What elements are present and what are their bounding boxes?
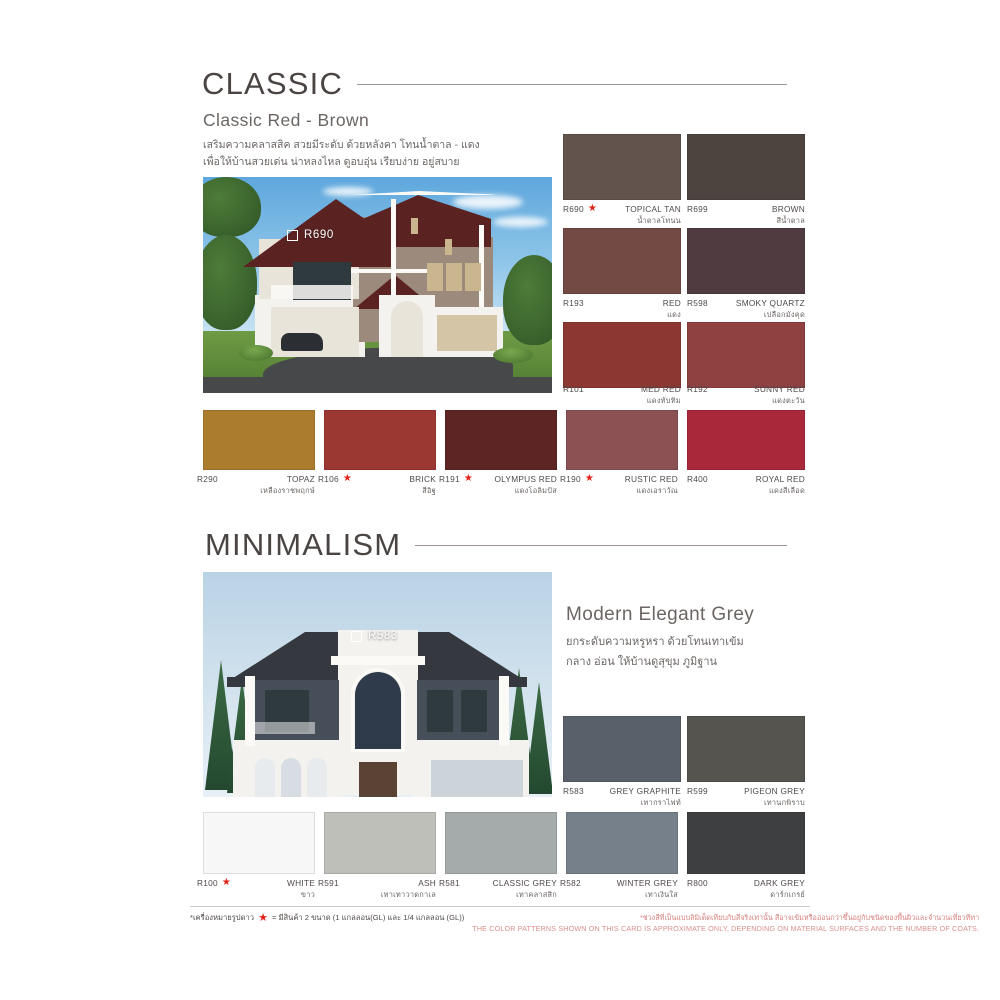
swatch-code-group: R581 (439, 878, 460, 888)
swatch-names: WHITE ขาว (287, 878, 315, 900)
swatch-name-thai: เทานกพิราบ (744, 797, 805, 808)
swatch-code: R599 (687, 786, 708, 796)
swatch-R101[interactable] (563, 322, 681, 388)
swatch-name: WHITE (287, 878, 315, 889)
garage (431, 760, 523, 797)
driveway-front (203, 377, 552, 393)
house-colour-chip-classic: R690 (287, 229, 334, 241)
swatch-colour (445, 812, 557, 874)
window (445, 239, 452, 255)
house-colour-chip-minimalism: R583 (351, 630, 398, 642)
swatch-R800[interactable] (687, 812, 805, 874)
swatch-name-thai: ดาร์กเกรย์ (754, 889, 805, 900)
swatch-caption-R591: R591 ASH เทาเทาวาดกาเล (318, 878, 436, 900)
swatch-R599[interactable] (687, 716, 805, 782)
swatch-names: SUNNY RED แดงตะวัน (754, 384, 805, 406)
swatch-colour (687, 134, 805, 200)
swatch-colour (203, 812, 315, 874)
swatch-code-group: R699 (687, 204, 708, 214)
section-heading-classic: CLASSIC (202, 66, 787, 102)
entry-door (359, 762, 397, 797)
cloud-icon (453, 195, 523, 209)
arch-opening (281, 758, 301, 797)
tree (503, 255, 552, 345)
colour-card-page: CLASSIC Classic Red - Brown เสริมความคลา… (0, 0, 1000, 1000)
swatch-R190[interactable] (566, 410, 678, 470)
shrub (239, 345, 273, 361)
swatch-code: R699 (687, 204, 708, 214)
swatch-names: TOPICAL TAN น้ำตาลโทนน (625, 204, 681, 226)
swatch-R290[interactable] (203, 410, 315, 470)
section-subtitle-classic: Classic Red - Brown (203, 110, 369, 131)
swatch-name: RED (663, 298, 681, 309)
swatch-code: R106 (318, 474, 339, 484)
swatch-code-group: R106 ★ (318, 474, 352, 484)
footer-legend-prefix: *เครื่องหมายรูปดาว (190, 912, 254, 924)
star-icon: ★ (588, 205, 597, 213)
swatch-code: R193 (563, 298, 584, 308)
swatch-name: ASH (381, 878, 436, 889)
swatch-code: R290 (197, 474, 218, 484)
swatch-name: ROYAL RED (756, 474, 805, 485)
house-colour-code: R583 (368, 630, 398, 642)
swatch-code: R800 (687, 878, 708, 888)
swatch-colour (324, 410, 436, 470)
column (245, 676, 255, 746)
balcony-rail (271, 285, 353, 299)
swatch-code: R400 (687, 474, 708, 484)
swatch-caption-R192: R192 SUNNY RED แดงตะวัน (687, 384, 805, 406)
swatch-names: ASH เทาเทาวาดกาเล (381, 878, 436, 900)
swatch-caption-R101: R101 MED RED แดงทับทิม (563, 384, 681, 406)
star-icon: ★ (222, 879, 231, 887)
swatch-caption-R690: R690 ★ TOPICAL TAN น้ำตาลโทนน (563, 204, 681, 226)
arch-opening (391, 301, 423, 357)
swatch-colour (563, 322, 681, 388)
swatch-names: MED RED แดงทับทิม (641, 384, 681, 406)
swatch-colour (563, 134, 681, 200)
star-icon: ★ (343, 475, 352, 483)
swatch-colour (687, 716, 805, 782)
swatch-colour (687, 410, 805, 470)
swatch-caption-R193: R193 RED แดง (563, 298, 681, 320)
swatch-R191[interactable] (445, 410, 557, 470)
swatch-names: SMOKY QUARTZ เปลือกมังคุด (736, 298, 805, 320)
window (427, 263, 443, 291)
swatch-code-group: R690 ★ (563, 204, 597, 214)
swatch-colour (563, 228, 681, 294)
section-subtitle-minimalism: Modern Elegant Grey (566, 604, 754, 626)
swatch-caption-R581: R581 CLASSIC GREY เทาคลาสสิก (439, 878, 557, 900)
swatch-name-thai: แดง (663, 309, 681, 320)
swatch-name: TOPAZ (260, 474, 315, 485)
balcony-rail (249, 722, 315, 734)
swatch-name: SUNNY RED (754, 384, 805, 395)
house-render-minimalism: R583 (203, 572, 552, 797)
swatch-names: RUSTIC RED แดงเอราวัณ (625, 474, 678, 496)
swatch-colour (566, 410, 678, 470)
swatch-code-group: R800 (687, 878, 708, 888)
swatch-name-thai: สีอิฐ (409, 485, 436, 496)
swatch-name-thai: เทาคลาสสิก (493, 889, 557, 900)
swatch-name-thai: เหลืองราชพฤกษ์ (260, 485, 315, 496)
swatch-name: BROWN (772, 204, 805, 215)
star-icon: ★ (258, 914, 268, 922)
swatch-caption-R699: R699 BROWN สีน้ำตาล (687, 204, 805, 226)
swatch-square-icon (287, 230, 298, 241)
swatch-names: BROWN สีน้ำตาล (772, 204, 805, 226)
swatch-code: R583 (563, 786, 584, 796)
swatch-colour (566, 812, 678, 874)
swatch-R598[interactable] (687, 228, 805, 294)
section-heading-minimalism: MINIMALISM (205, 527, 787, 563)
swatch-name: CLASSIC GREY (493, 878, 557, 889)
swatch-caption-R583: R583 GREY GRAPHITE เทากราไฟท์ (563, 786, 681, 808)
swatch-name: WINTER GREY (617, 878, 678, 889)
swatch-names: CLASSIC GREY เทาคลาสสิก (493, 878, 557, 900)
arch-opening (255, 758, 275, 797)
swatch-name-thai: เทาเงินใส (617, 889, 678, 900)
swatch-name-thai: ขาว (287, 889, 315, 900)
house-colour-code: R690 (304, 229, 334, 241)
swatch-R581[interactable] (445, 812, 557, 874)
window (427, 690, 453, 732)
swatch-R193[interactable] (563, 228, 681, 294)
swatch-code-group: R599 (687, 786, 708, 796)
swatch-code-group: R190 ★ (560, 474, 594, 484)
heading-rule (415, 545, 787, 546)
swatch-names: ROYAL RED แดงสีเลือด (756, 474, 805, 496)
swatch-name-thai: เทากราไฟท์ (610, 797, 681, 808)
swatch-code-group: R400 (687, 474, 708, 484)
swatch-code: R191 (439, 474, 460, 484)
footer-disclaimer: *ช่วงสีที่เป็นแบบลิมิเต็ดเทียบกับสีจริงเ… (472, 912, 979, 934)
portico-cornice (331, 656, 425, 665)
swatch-code: R591 (318, 878, 339, 888)
swatch-R699[interactable] (687, 134, 805, 200)
swatch-code-group: R101 (563, 384, 584, 394)
swatch-colour (687, 228, 805, 294)
swatch-code: R192 (687, 384, 708, 394)
swatch-name-thai: แดงโอลิมปัส (494, 485, 557, 496)
window (465, 263, 481, 291)
swatch-code: R581 (439, 878, 460, 888)
swatch-caption-R100: R100 ★ WHITE ขาว (197, 878, 315, 900)
shrub (493, 347, 533, 363)
swatch-name-thai: น้ำตาลโทนน (625, 215, 681, 226)
swatch-colour (563, 716, 681, 782)
swatch-code-group: R591 (318, 878, 339, 888)
swatch-caption-R800: R800 DARK GREY ดาร์กเกรย์ (687, 878, 805, 900)
swatch-code: R190 (560, 474, 581, 484)
section-title: MINIMALISM (205, 527, 401, 563)
swatch-name: BRICK (409, 474, 436, 485)
swatch-caption-R290: R290 TOPAZ เหลืองราชพฤกษ์ (197, 474, 315, 496)
arch-window-trim (351, 668, 405, 752)
swatch-colour (203, 410, 315, 470)
swatch-code-group: R100 ★ (197, 878, 231, 888)
swatch-R106[interactable] (324, 410, 436, 470)
swatch-names: GREY GRAPHITE เทากราไฟท์ (610, 786, 681, 808)
footer-disclaimer-thai: *ช่วงสีที่เป็นแบบลิมิเต็ดเทียบกับสีจริงเ… (472, 912, 979, 923)
star-icon: ★ (585, 475, 594, 483)
swatch-code: R101 (563, 384, 584, 394)
swatch-names: RED แดง (663, 298, 681, 320)
star-icon: ★ (464, 475, 473, 483)
swatch-code-group: R192 (687, 384, 708, 394)
swatch-names: BRICK สีอิฐ (409, 474, 436, 496)
arch-opening (307, 758, 327, 797)
cloud-icon (493, 217, 548, 227)
swatch-code: R100 (197, 878, 218, 888)
section-description-minimalism: ยกระดับความหรูหรา ด้วยโทนเทาเข้ม กลาง อ่… (566, 632, 816, 672)
swatch-R100[interactable] (203, 812, 315, 874)
swatch-R690[interactable] (563, 134, 681, 200)
swatch-names: OLYMPUS RED แดงโอลิมปัส (494, 474, 557, 496)
footer-disclaimer-en: THE COLOR PATTERNS SHOWN ON THIS CARD IS… (472, 923, 979, 934)
swatch-name-thai: แดงเอราวัณ (625, 485, 678, 496)
footer: *เครื่องหมายรูปดาว ★ = มีสินค้า 2 ขนาด (… (190, 912, 810, 934)
swatch-caption-R191: R191 ★ OLYMPUS RED แดงโอลิมปัส (439, 474, 557, 496)
footer-divider (190, 906, 810, 907)
swatch-code: R598 (687, 298, 708, 308)
swatch-name: RUSTIC RED (625, 474, 678, 485)
swatch-name-thai: แดงสีเลือด (756, 485, 805, 496)
swatch-name: PIGEON GREY (744, 786, 805, 797)
swatch-name: TOPICAL TAN (625, 204, 681, 215)
swatch-caption-R599: R599 PIGEON GREY เทานกพิราบ (687, 786, 805, 808)
swatch-name: GREY GRAPHITE (610, 786, 681, 797)
swatch-name-thai: เปลือกมังคุด (736, 309, 805, 320)
footer-row: *เครื่องหมายรูปดาว ★ = มีสินค้า 2 ขนาด (… (190, 912, 810, 934)
swatch-colour (687, 812, 805, 874)
section-description-classic: เสริมความคลาสสิค สวยมีระดับ ด้วยหลังคา โ… (203, 137, 563, 171)
swatch-colour (445, 410, 557, 470)
swatch-name-thai: เทาเทาวาดกาเล (381, 889, 436, 900)
footer-star-legend: *เครื่องหมายรูปดาว ★ = มีสินค้า 2 ขนาด (… (190, 912, 464, 924)
swatch-caption-R190: R190 ★ RUSTIC RED แดงเอราวัณ (560, 474, 678, 496)
swatch-code-group: R290 (197, 474, 218, 484)
house-render-classic: R690 (203, 177, 552, 393)
swatch-name: DARK GREY (754, 878, 805, 889)
swatch-R583[interactable] (563, 716, 681, 782)
window (411, 218, 418, 234)
swatch-name: OLYMPUS RED (494, 474, 557, 485)
swatch-R582[interactable] (566, 812, 678, 874)
window (446, 263, 462, 291)
swatch-code: R582 (560, 878, 581, 888)
swatch-code: R690 (563, 204, 584, 214)
swatch-code-group: R191 ★ (439, 474, 473, 484)
swatch-code-group: R193 (563, 298, 584, 308)
pavilion-window (437, 315, 497, 351)
car (281, 333, 323, 351)
swatch-name-thai: แดงตะวัน (754, 395, 805, 406)
column (499, 676, 509, 746)
swatch-code-group: R583 (563, 786, 584, 796)
section-title: CLASSIC (202, 66, 343, 102)
swatch-caption-R598: R598 SMOKY QUARTZ เปลือกมังคุด (687, 298, 805, 320)
swatch-caption-R106: R106 ★ BRICK สีอิฐ (318, 474, 436, 496)
window (461, 690, 487, 732)
swatch-name-thai: สีน้ำตาล (772, 215, 805, 226)
swatch-R591[interactable] (324, 812, 436, 874)
swatch-colour (687, 322, 805, 388)
swatch-caption-R400: R400 ROYAL RED แดงสีเลือด (687, 474, 805, 496)
swatch-code-group: R582 (560, 878, 581, 888)
swatch-caption-R582: R582 WINTER GREY เทาเงินใส (560, 878, 678, 900)
swatch-code-group: R598 (687, 298, 708, 308)
swatch-names: TOPAZ เหลืองราชพฤกษ์ (260, 474, 315, 496)
swatch-names: WINTER GREY เทาเงินใส (617, 878, 678, 900)
swatch-name: SMOKY QUARTZ (736, 298, 805, 309)
heading-rule (357, 84, 787, 85)
swatch-names: DARK GREY ดาร์กเกรย์ (754, 878, 805, 900)
swatch-colour (324, 812, 436, 874)
swatch-R192[interactable] (687, 322, 805, 388)
swatch-name-thai: แดงทับทิม (641, 395, 681, 406)
swatch-name: MED RED (641, 384, 681, 395)
swatch-square-icon (351, 631, 362, 642)
swatch-names: PIGEON GREY เทานกพิราบ (744, 786, 805, 808)
swatch-R400[interactable] (687, 410, 805, 470)
footer-legend-suffix: = มีสินค้า 2 ขนาด (1 แกลลอน(GL) และ 1/4 … (272, 912, 464, 924)
